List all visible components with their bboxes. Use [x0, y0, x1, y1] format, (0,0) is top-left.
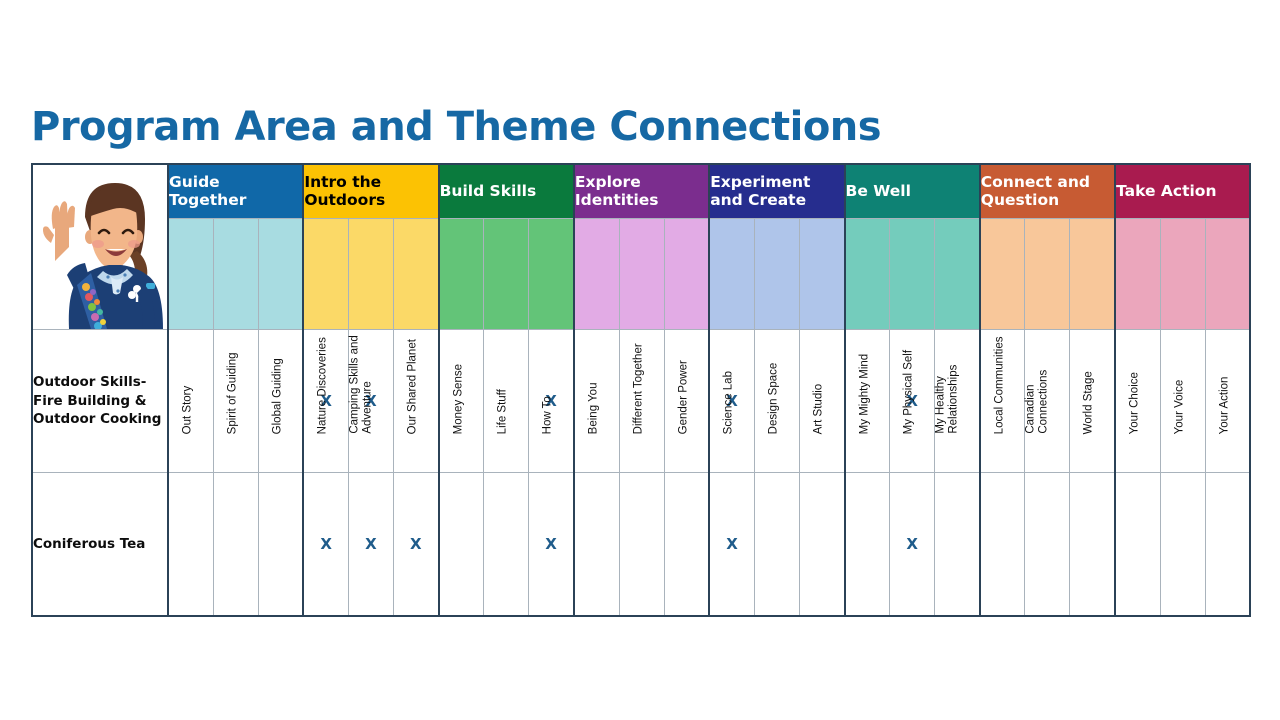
- theme-column-label: Gender Power: [677, 324, 690, 434]
- empty-cell[interactable]: [213, 473, 258, 616]
- empty-cell[interactable]: [484, 473, 529, 616]
- theme-column-label: Out Story: [182, 324, 195, 434]
- theme-column-label: Our Shared Planet: [407, 324, 420, 434]
- theme-column-header: Our Shared Planet: [394, 218, 439, 329]
- empty-cell[interactable]: [754, 473, 799, 616]
- theme-column-header: Camping Skills and Adventure: [348, 218, 393, 329]
- empty-cell[interactable]: [574, 473, 619, 616]
- program-area-header: Guide Together: [168, 164, 303, 218]
- activity-name: Outdoor Skills- Fire Building & Outdoor …: [32, 330, 168, 473]
- theme-column-label: Design Space: [767, 324, 780, 434]
- empty-cell[interactable]: [799, 473, 844, 616]
- theme-column-label: Nature Discoveries: [317, 324, 330, 434]
- empty-cell[interactable]: [664, 473, 709, 616]
- program-area-header: Experiment and Create: [709, 164, 844, 218]
- theme-column-label: Local Communities: [993, 324, 1006, 434]
- theme-column-header: My Physical Self: [890, 218, 935, 329]
- theme-column-label: How To: [542, 324, 555, 434]
- theme-column-label: Life Stuff: [497, 324, 510, 434]
- theme-column-label: My Physical Self: [903, 324, 916, 434]
- theme-column-label: Canadian Connections: [1025, 324, 1052, 434]
- theme-column-header: Gender Power: [664, 218, 709, 329]
- theme-column-header: My Healthy Relationships: [935, 218, 980, 329]
- program-area-header: Explore Identities: [574, 164, 709, 218]
- program-area-theme-matrix: Guide TogetherIntro the OutdoorsBuild Sk…: [31, 163, 1251, 617]
- theme-column-header: Design Space: [754, 218, 799, 329]
- sub-header-row: Out StorySpirit of GuidingGlobal Guiding…: [32, 218, 1250, 329]
- page-title: Program Area and Theme Connections: [31, 104, 881, 150]
- theme-column-header: Your Action: [1205, 218, 1250, 329]
- theme-column-header: Life Stuff: [484, 218, 529, 329]
- table-row: Coniferous TeaXXXXXX: [32, 473, 1250, 616]
- empty-cell[interactable]: [258, 473, 303, 616]
- theme-column-header: Money Sense: [439, 218, 484, 329]
- theme-column-header: Your Voice: [1160, 218, 1205, 329]
- empty-cell[interactable]: [935, 473, 980, 616]
- program-area-header: Build Skills: [439, 164, 574, 218]
- girl-guide-saluting-icon: [33, 165, 167, 329]
- theme-column-label: Your Action: [1218, 324, 1231, 434]
- program-area-header: Be Well: [845, 164, 980, 218]
- empty-cell[interactable]: [619, 473, 664, 616]
- empty-cell[interactable]: [439, 473, 484, 616]
- empty-cell[interactable]: [1070, 473, 1115, 616]
- theme-column-header: Being You: [574, 218, 619, 329]
- program-area-header: Take Action: [1115, 164, 1250, 218]
- empty-cell[interactable]: [1115, 473, 1160, 616]
- theme-column-label: Different Together: [632, 324, 645, 434]
- theme-column-header: Your Choice: [1115, 218, 1160, 329]
- theme-column-header: Spirit of Guiding: [213, 218, 258, 329]
- connection-mark-cell[interactable]: X: [303, 473, 348, 616]
- theme-column-label: World Stage: [1083, 324, 1096, 434]
- theme-column-header: Canadian Connections: [1025, 218, 1070, 329]
- program-area-header: Connect and Question: [980, 164, 1115, 218]
- theme-column-label: Being You: [588, 324, 601, 434]
- theme-column-label: Science Lab: [723, 324, 736, 434]
- theme-column-label: Your Choice: [1129, 324, 1142, 434]
- theme-column-header: Art Studio: [799, 218, 844, 329]
- empty-cell[interactable]: [1025, 473, 1070, 616]
- theme-column-header: Nature Discoveries: [303, 218, 348, 329]
- empty-cell[interactable]: [168, 473, 213, 616]
- theme-column-label: Global Guiding: [271, 324, 284, 434]
- theme-column-header: Global Guiding: [258, 218, 303, 329]
- slide-canvas: Program Area and Theme Connections: [0, 0, 1280, 720]
- connection-mark-cell[interactable]: X: [348, 473, 393, 616]
- activity-name: Coniferous Tea: [32, 473, 168, 616]
- theme-column-label: Camping Skills and Adventure: [348, 324, 375, 434]
- theme-column-header: Different Together: [619, 218, 664, 329]
- empty-cell[interactable]: [1160, 473, 1205, 616]
- theme-column-header: Local Communities: [980, 218, 1025, 329]
- theme-column-header: How To: [529, 218, 574, 329]
- connection-mark-cell[interactable]: X: [890, 473, 935, 616]
- empty-cell[interactable]: [1205, 473, 1250, 616]
- theme-column-label: Art Studio: [813, 324, 826, 434]
- theme-column-label: My Mighty Mind: [858, 324, 871, 434]
- theme-column-label: Spirit of Guiding: [226, 324, 239, 434]
- connection-mark-cell[interactable]: X: [529, 473, 574, 616]
- theme-column-header: Science Lab: [709, 218, 754, 329]
- group-header-row: Guide TogetherIntro the OutdoorsBuild Sk…: [32, 164, 1250, 218]
- theme-column-label: Money Sense: [452, 324, 465, 434]
- theme-column-header: Out Story: [168, 218, 213, 329]
- theme-column-header: My Mighty Mind: [845, 218, 890, 329]
- mascot-cell: [32, 164, 168, 330]
- connection-mark-cell[interactable]: X: [709, 473, 754, 616]
- connection-mark-cell[interactable]: X: [394, 473, 439, 616]
- theme-column-label: Your Voice: [1173, 324, 1186, 434]
- theme-column-header: World Stage: [1070, 218, 1115, 329]
- theme-column-label: My Healthy Relationships: [935, 324, 962, 434]
- program-area-header: Intro the Outdoors: [303, 164, 438, 218]
- empty-cell[interactable]: [845, 473, 890, 616]
- empty-cell[interactable]: [980, 473, 1025, 616]
